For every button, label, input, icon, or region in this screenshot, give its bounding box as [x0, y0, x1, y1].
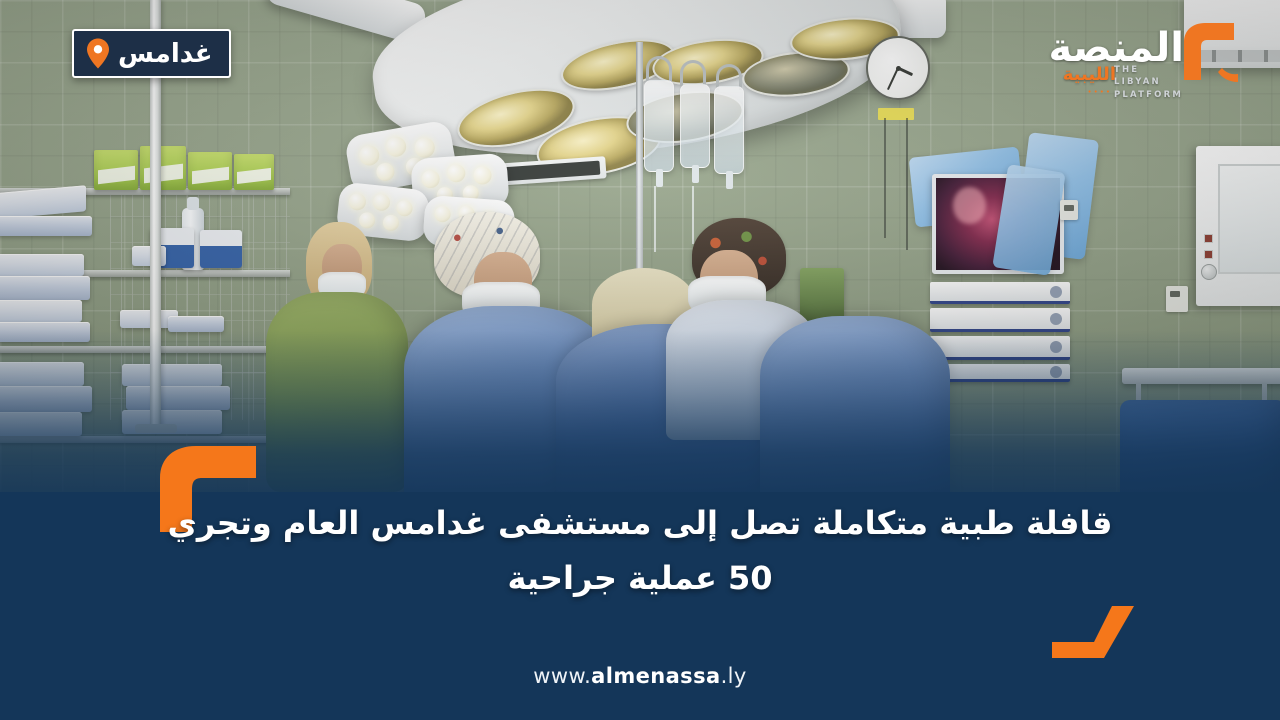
logo-english-line1: THE LIBYAN	[1114, 65, 1161, 87]
location-badge-label: غدامس	[118, 41, 213, 67]
headline-line-2: 50 عملية جراحية	[60, 551, 1220, 606]
headline-line-1: قافلة طبية متكاملة تصل إلى مستشفى غدامس …	[168, 504, 1113, 542]
logo-arabic-qualifier: الليبية	[1063, 66, 1116, 84]
logo-english-line2: PLATFORM	[1114, 90, 1183, 100]
logo-english-name: THE LIBYAN PLATFORM	[1114, 64, 1186, 101]
logo-dots: ••••	[1087, 88, 1112, 96]
headline: قافلة طبية متكاملة تصل إلى مستشفى غدامس …	[60, 496, 1220, 606]
news-graphic-card: غدامس المنصة الليبية THE LIBYAN PLATFORM…	[0, 0, 1280, 720]
location-badge[interactable]: غدامس	[72, 29, 231, 78]
website-prefix: www.	[533, 664, 591, 688]
location-pin-icon	[86, 38, 110, 69]
logo-arabic-name: المنصة	[1048, 28, 1184, 68]
corner-bracket-bottom-right-icon	[1050, 606, 1136, 662]
website-name: almenassa	[591, 664, 720, 688]
website-tld: .ly	[721, 664, 747, 688]
channel-logo[interactable]: المنصة الليبية THE LIBYAN PLATFORM ••••	[1034, 16, 1244, 94]
website-url[interactable]: www.almenassa.ly	[0, 664, 1280, 688]
